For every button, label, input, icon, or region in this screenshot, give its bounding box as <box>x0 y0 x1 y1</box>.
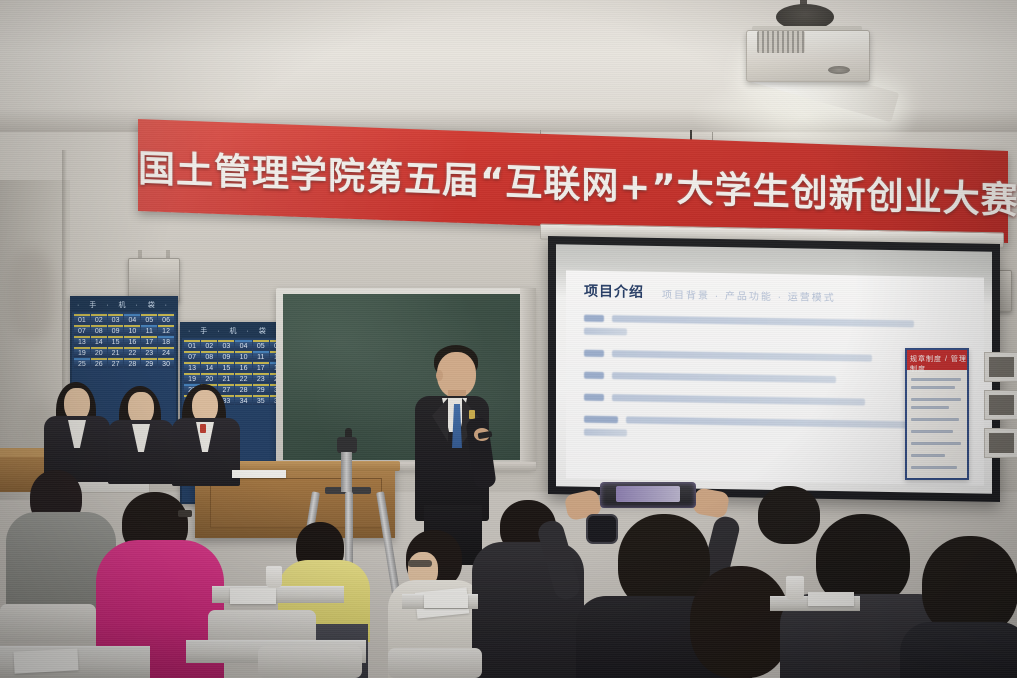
framed-certificate <box>984 428 1017 458</box>
pocket-slot: 11 <box>141 325 157 335</box>
pocket-slot: 27 <box>218 384 234 394</box>
slide-text-line <box>612 372 836 383</box>
slide-text-line <box>584 429 627 437</box>
paper-cup <box>786 576 804 600</box>
chair-back <box>258 646 362 678</box>
pocket-slot: 09 <box>108 325 124 335</box>
pocket-slot: 28 <box>124 358 140 368</box>
pocket-slot: 14 <box>91 336 107 346</box>
pocket-slot: 14 <box>201 362 217 372</box>
audience-back-row-1-head <box>690 566 790 678</box>
tripod-head <box>337 437 357 453</box>
tripod-center-column <box>341 452 352 492</box>
pocket-slot: 10 <box>124 325 140 335</box>
pocket-slot: 26 <box>91 358 107 368</box>
pocket-slot: 22 <box>124 347 140 357</box>
slide-text-line <box>612 394 865 405</box>
blackboard-frame-right <box>520 288 536 470</box>
pocket-slot: 28 <box>235 384 251 394</box>
pocket-slot: 25 <box>74 358 90 368</box>
classroom-photo-scene: 国土管理学院第五届“互联网+”大学生创新创业大赛初赛 · 手 · 机 · 袋 ·… <box>0 0 1017 678</box>
framed-certificate <box>984 390 1017 420</box>
photographer-hand-right <box>692 487 730 519</box>
slide-text-line <box>612 350 872 362</box>
slide-bullet-tag <box>584 372 604 379</box>
pocket-slot: 05 <box>253 340 269 350</box>
pocket-slot: 34 <box>235 395 251 405</box>
projector-lens <box>828 66 850 74</box>
audience-glasses-icon <box>408 560 432 567</box>
slide-text-line <box>584 328 627 336</box>
pocket-slot: 20 <box>91 347 107 357</box>
pocket-slot: 03 <box>218 340 234 350</box>
pocket-slot: 08 <box>201 351 217 361</box>
poster-text-line <box>911 442 961 445</box>
desk-paper <box>230 588 276 604</box>
slide-bullet-tag <box>584 416 618 424</box>
poster-text-line <box>911 454 945 457</box>
poster-text-line <box>911 386 955 389</box>
pocket-slot: 16 <box>124 336 140 346</box>
poster-header-text: 规章制度 / 管理制度 <box>910 354 967 374</box>
pocket-slot: 13 <box>184 362 200 372</box>
desk-paper <box>808 592 854 606</box>
audience-back-row-3-head <box>922 536 1017 636</box>
frame-inner <box>989 433 1014 453</box>
pocket-slot: 01 <box>74 314 90 324</box>
paper-cup <box>266 566 282 588</box>
poster-text-line <box>911 430 953 433</box>
chair-back <box>0 604 96 642</box>
poster-header-band: 规章制度 / 管理制度 <box>907 350 967 370</box>
pocket-slot: 11 <box>253 351 269 361</box>
pocket-slot: 16 <box>235 362 251 372</box>
wall-stain <box>8 250 54 340</box>
pocket-slot: 17 <box>253 362 269 372</box>
slide-title: 项目介绍 <box>584 281 644 302</box>
pocket-slot: 15 <box>108 336 124 346</box>
pocket-slot: 12 <box>158 325 174 335</box>
slide-subtitle: 项目背景 · 产品功能 · 运营模式 <box>662 286 836 304</box>
pocket-slot: 10 <box>235 351 251 361</box>
pocket-board-header: · 手 · 机 · 袋 · <box>72 298 176 312</box>
poster-text-line <box>911 406 949 409</box>
poster-text-line <box>911 378 961 381</box>
pocket-slot: 23 <box>253 373 269 383</box>
audience-glasses-icon <box>178 510 192 517</box>
pocket-slot: 15 <box>218 362 234 372</box>
poster-text-line <box>911 398 961 401</box>
pocket-slot: 21 <box>108 347 124 357</box>
pocket-slot: 04 <box>235 340 251 350</box>
pocket-slot: 19 <box>74 347 90 357</box>
pocket-slot: 07 <box>74 325 90 335</box>
slide-bullet-tag <box>584 315 604 322</box>
pocket-slot: 18 <box>158 336 174 346</box>
pocket-slot: 06 <box>158 314 174 324</box>
slide-text-line <box>612 315 914 327</box>
pocket-slot: 07 <box>184 351 200 361</box>
pocket-slot: 22 <box>235 373 251 383</box>
frame-inner <box>989 357 1014 377</box>
pocket-slot: 30 <box>158 358 174 368</box>
pocket-slot: 24 <box>158 347 174 357</box>
pocket-slot: 03 <box>108 314 124 324</box>
wristwatch-icon <box>586 514 618 544</box>
slide-text-line <box>626 416 914 428</box>
poster-text-line <box>911 466 957 469</box>
pocket-grid: 0102030405060708091011121314151617181920… <box>72 312 176 370</box>
pocket-slot: 05 <box>141 314 157 324</box>
pocket-slot: 27 <box>108 358 124 368</box>
pocket-slot: 23 <box>141 347 157 357</box>
podium-paper <box>232 470 286 478</box>
slide-bullet-tag <box>584 394 604 401</box>
pocket-slot: 29 <box>253 384 269 394</box>
pocket-slot: 08 <box>91 325 107 335</box>
pocket-slot: 35 <box>253 395 269 405</box>
phone-screen <box>616 486 680 502</box>
wall-poster: 规章制度 / 管理制度 <box>905 348 969 480</box>
projector-vent <box>757 31 805 53</box>
slide-bullet-tag <box>584 350 604 357</box>
chair-back <box>388 648 482 678</box>
pocket-slot: 02 <box>91 314 107 324</box>
pocket-slot: 09 <box>218 351 234 361</box>
pocket-slot: 21 <box>218 373 234 383</box>
pocket-slot: 19 <box>184 373 200 383</box>
audience-back-row-4-head <box>758 486 820 544</box>
framed-certificate <box>984 352 1017 382</box>
desk-paper <box>424 594 468 608</box>
pocket-board-header: · 手 · 机 · 袋 · <box>182 324 288 338</box>
pocket-slot: 01 <box>184 340 200 350</box>
pocket-slot: 17 <box>141 336 157 346</box>
pocket-slot: 20 <box>201 373 217 383</box>
pocket-slot: 13 <box>74 336 90 346</box>
desk-paper <box>13 648 78 673</box>
team-member-3-badge <box>200 424 206 433</box>
audience-back-row-3-body <box>900 622 1017 678</box>
presenter-ear <box>436 370 443 381</box>
poster-text-line <box>911 418 959 421</box>
pocket-slot: 02 <box>201 340 217 350</box>
pocket-slot: 04 <box>124 314 140 324</box>
frame-inner <box>989 395 1014 415</box>
pocket-slot: 29 <box>141 358 157 368</box>
